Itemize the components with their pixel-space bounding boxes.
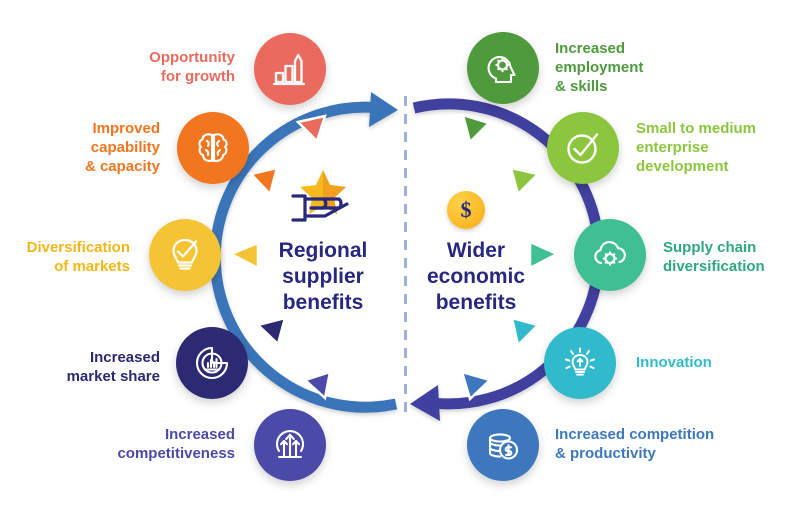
label-increased-competitiveness: Increased competitiveness: [75, 425, 235, 463]
check-circle-icon: [563, 128, 603, 168]
label-sme-development: Small to medium enterprise development: [636, 119, 810, 176]
pie-chart-bars-icon: [192, 343, 232, 383]
bubble-innovation[interactable]: [544, 327, 616, 399]
centre-title-right: Wider economic benefits: [412, 238, 540, 316]
infographic-canvas: $ Regional supplier benefits Wider econo…: [0, 0, 810, 513]
hand-star-icon: [283, 168, 363, 226]
bubble-diversification-of-markets[interactable]: [149, 219, 221, 291]
coins-dollar-icon: [483, 425, 523, 465]
bubble-opportunity-for-growth[interactable]: [254, 33, 326, 105]
label-innovation: Innovation: [636, 353, 776, 372]
dollar-coin-icon: $: [447, 191, 485, 229]
bar-chart-growth-icon: [270, 49, 310, 89]
coin-symbol: $: [461, 197, 472, 223]
centre-title-left: Regional supplier benefits: [262, 238, 384, 316]
lightbulb-rays-icon: [560, 343, 600, 383]
bubble-sme-development[interactable]: [547, 112, 619, 184]
label-increased-employment: Increased employment & skills: [555, 39, 735, 96]
bubble-increased-competitiveness[interactable]: [254, 409, 326, 481]
bubble-increased-competition[interactable]: [467, 409, 539, 481]
bubble-improved-capability[interactable]: [177, 112, 249, 184]
label-opportunity-for-growth: Opportunity for growth: [60, 48, 235, 86]
bubble-increased-market-share[interactable]: [176, 327, 248, 399]
label-increased-market-share: Increased market share: [40, 348, 160, 386]
bubble-increased-employment[interactable]: [467, 32, 539, 104]
centre-divider: [404, 96, 407, 416]
label-improved-capability: Improved capability & capacity: [40, 119, 160, 176]
label-diversification-of-markets: Diversification of markets: [15, 238, 130, 276]
brain-icon: [193, 128, 233, 168]
cloud-gear-icon: [590, 235, 630, 275]
bubble-supply-chain-diversification[interactable]: [574, 219, 646, 291]
lightbulb-check-icon: [165, 235, 205, 275]
head-gear-icon: [483, 48, 523, 88]
label-increased-competition: Increased competition & productivity: [555, 425, 755, 463]
label-supply-chain-diversification: Supply chain diversification: [663, 238, 810, 276]
three-up-arrows-icon: [270, 425, 310, 465]
